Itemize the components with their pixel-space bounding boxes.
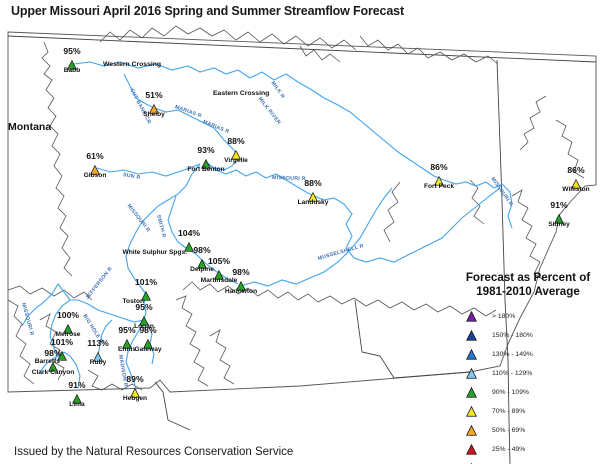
legend-row-2: 130% - 149% — [462, 345, 594, 364]
station-name: Sidney — [548, 221, 570, 228]
station-triangle-icon — [143, 336, 153, 346]
legend-triangle-icon — [462, 349, 480, 360]
station-name: Clark Canyon — [32, 369, 75, 376]
station-percent: 93% — [197, 145, 214, 155]
station-percent: 95% — [63, 46, 80, 56]
station-triangle-icon — [197, 256, 207, 266]
station-name: Delpine — [190, 266, 214, 273]
legend-title-line1: Forecast as Percent of — [462, 271, 594, 285]
station-name: Hebgen — [123, 395, 147, 402]
legend-label: 150% - 180% — [492, 332, 533, 339]
station-percent: 105% — [208, 256, 230, 266]
station-name: Martinsdale — [201, 277, 238, 284]
footer-issuer: Issued by the Natural Resources Conserva… — [14, 446, 293, 458]
legend-rows: > 180%150% - 180%130% - 149%110% - 129%9… — [462, 307, 594, 464]
station-triangle-icon — [72, 391, 82, 401]
station-name: Fort Peck — [424, 183, 454, 190]
terrain-outline-north — [100, 26, 498, 64]
legend-row-4: 90% - 109% — [462, 383, 594, 402]
station-percent: 98% — [139, 325, 156, 335]
station-percent: 51% — [145, 90, 162, 100]
station-percent: 98% — [232, 267, 249, 277]
station-percent: 91% — [68, 380, 85, 390]
station-name: Virgelle — [224, 157, 248, 164]
station-triangle-icon — [90, 162, 100, 172]
legend-label: 50% - 69% — [492, 427, 525, 434]
station-percent: 101% — [51, 337, 73, 347]
legend-row-5: 70% - 89% — [462, 402, 594, 421]
station-triangle-icon — [67, 57, 77, 67]
legend: Forecast as Percent of 1981-2010 Average… — [462, 271, 594, 464]
legend-row-6: 50% - 69% — [462, 421, 594, 440]
station-name: Landusky — [298, 199, 329, 206]
station-triangle-icon — [201, 156, 211, 166]
legend-row-7: 25% - 49% — [462, 440, 594, 459]
state-border-south — [155, 300, 470, 430]
station-percent: 95% — [135, 302, 152, 312]
legend-title: Forecast as Percent of 1981-2010 Average — [462, 271, 594, 298]
state-label: Montana — [8, 121, 51, 133]
station-triangle-icon — [214, 267, 224, 277]
station-triangle-icon — [571, 176, 581, 186]
station-name: Babb — [64, 67, 80, 74]
station-percent: 86% — [430, 162, 447, 172]
station-percent: 100% — [57, 310, 79, 320]
legend-row-8: < 25% — [462, 459, 594, 464]
station-name: Ennis — [118, 346, 136, 353]
station-triangle-icon — [141, 288, 151, 298]
station-percent: 89% — [126, 374, 143, 384]
legend-row-3: 110% - 129% — [462, 364, 594, 383]
legend-triangle-icon — [462, 406, 480, 417]
station-name: Gibson — [84, 172, 107, 179]
station-percent: 86% — [567, 165, 584, 175]
station-percent: 113% — [87, 338, 109, 348]
station-percent: 88% — [227, 136, 244, 146]
legend-row-0: > 180% — [462, 307, 594, 326]
station-name: Harlowton — [225, 288, 257, 295]
legend-label: > 180% — [492, 313, 515, 320]
station-percent: 88% — [304, 178, 321, 188]
station-triangle-icon — [63, 321, 73, 331]
crossing-label-0: Western Crossing — [103, 61, 161, 68]
station-name: Gateway — [134, 346, 161, 353]
river-label-8: MISSOURI R — [272, 175, 306, 182]
station-name: Ruby — [90, 359, 106, 366]
legend-label: 90% - 109% — [492, 389, 529, 396]
legend-triangle-icon — [462, 330, 480, 341]
station-percent: 98% — [193, 245, 210, 255]
legend-triangle-icon — [462, 368, 480, 379]
station-triangle-icon — [130, 385, 140, 395]
legend-row-1: 150% - 180% — [462, 326, 594, 345]
legend-triangle-icon — [462, 425, 480, 436]
streamflow-forecast-map: Upper Missouri April 2016 Spring and Sum… — [0, 0, 600, 464]
station-triangle-icon — [122, 336, 132, 346]
station-percent: 95% — [118, 325, 135, 335]
station-percent: 104% — [178, 228, 200, 238]
station-triangle-icon — [231, 147, 241, 157]
station-percent: 98% — [44, 348, 61, 358]
legend-label: 130% - 149% — [492, 351, 533, 358]
station-percent: 61% — [86, 151, 103, 161]
station-name: Williston — [562, 186, 589, 193]
legend-triangle-icon — [462, 387, 480, 398]
legend-triangle-icon — [462, 311, 480, 322]
station-triangle-icon — [554, 211, 564, 221]
station-triangle-icon — [308, 189, 318, 199]
station-triangle-icon — [236, 278, 246, 288]
station-name: Lima — [69, 401, 84, 408]
station-triangle-icon — [434, 173, 444, 183]
station-triangle-icon — [149, 101, 159, 111]
station-triangle-icon — [93, 349, 103, 359]
legend-title-line2: 1981-2010 Average — [462, 285, 594, 299]
legend-label: 110% - 129% — [492, 370, 532, 377]
station-percent: 101% — [135, 277, 157, 287]
station-name: Fort Benton — [187, 166, 224, 173]
legend-triangle-icon — [462, 444, 480, 455]
station-triangle-icon — [48, 359, 58, 369]
legend-label: 70% - 89% — [492, 408, 525, 415]
station-triangle-icon — [139, 313, 149, 323]
station-name: White Sulphur Spgs. — [123, 249, 187, 256]
legend-label: 25% - 49% — [492, 446, 525, 453]
station-percent: 91% — [550, 200, 567, 210]
station-name: Shelby — [143, 111, 165, 118]
